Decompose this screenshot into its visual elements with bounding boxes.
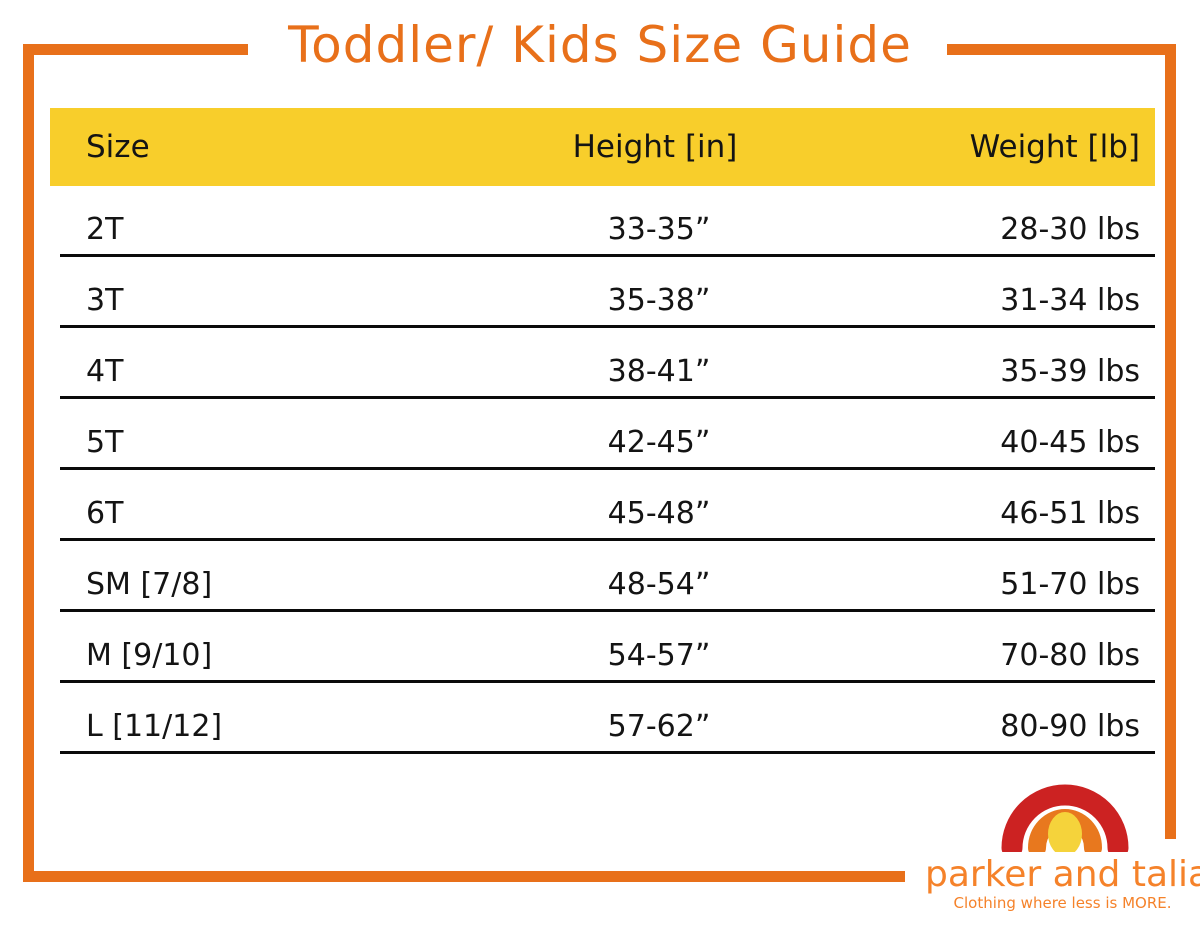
brand-name: parker and talia <box>925 854 1200 896</box>
cell-height: 45-48” <box>476 496 842 538</box>
size-guide-table: Size Height [in] Weight [lb] 2T 33-35” 2… <box>50 108 1155 754</box>
table-row: 4T 38-41” 35-39 lbs <box>60 328 1155 399</box>
frame-bottom-bar <box>23 871 905 882</box>
cell-size: SM [7/8] <box>60 567 476 609</box>
table-row: M [9/10] 54-57” 70-80 lbs <box>60 612 1155 683</box>
cell-weight: 46-51 lbs <box>842 496 1155 538</box>
table-row: L [11/12] 57-62” 80-90 lbs <box>60 683 1155 754</box>
brand-logo: parker and talia Clothing where less is … <box>955 762 1195 927</box>
cell-height: 54-57” <box>476 638 842 680</box>
cell-size: 2T <box>60 212 476 254</box>
brand-tagline: Clothing where less is MORE. <box>925 894 1200 912</box>
cell-size: 6T <box>60 496 476 538</box>
rainbow-icon <box>1000 762 1130 852</box>
table-header-row: Size Height [in] Weight [lb] <box>50 108 1155 186</box>
cell-size: 5T <box>60 425 476 467</box>
table-body: 2T 33-35” 28-30 lbs 3T 35-38” 31-34 lbs … <box>60 186 1155 754</box>
column-header-weight: Weight [lb] <box>840 127 1155 167</box>
cell-size: 4T <box>60 354 476 396</box>
cell-height: 38-41” <box>476 354 842 396</box>
cell-size: L [11/12] <box>60 709 476 751</box>
table-row: 2T 33-35” 28-30 lbs <box>60 186 1155 257</box>
cell-weight: 40-45 lbs <box>842 425 1155 467</box>
table-row: 3T 35-38” 31-34 lbs <box>60 257 1155 328</box>
table-row: SM [7/8] 48-54” 51-70 lbs <box>60 541 1155 612</box>
page-title: Toddler/ Kids Size Guide <box>0 14 1200 76</box>
cell-weight: 70-80 lbs <box>842 638 1155 680</box>
cell-weight: 31-34 lbs <box>842 283 1155 325</box>
cell-height: 48-54” <box>476 567 842 609</box>
table-row: 5T 42-45” 40-45 lbs <box>60 399 1155 470</box>
frame-left-bar <box>23 44 34 882</box>
cell-size: M [9/10] <box>60 638 476 680</box>
cell-height: 42-45” <box>476 425 842 467</box>
column-header-height: Height [in] <box>470 127 840 167</box>
cell-height: 35-38” <box>476 283 842 325</box>
table-row: 6T 45-48” 46-51 lbs <box>60 470 1155 541</box>
column-header-size: Size <box>50 127 470 167</box>
cell-weight: 51-70 lbs <box>842 567 1155 609</box>
cell-weight: 80-90 lbs <box>842 709 1155 751</box>
cell-weight: 28-30 lbs <box>842 212 1155 254</box>
frame-right-bar <box>1165 44 1176 839</box>
cell-size: 3T <box>60 283 476 325</box>
cell-height: 57-62” <box>476 709 842 751</box>
cell-height: 33-35” <box>476 212 842 254</box>
cell-weight: 35-39 lbs <box>842 354 1155 396</box>
